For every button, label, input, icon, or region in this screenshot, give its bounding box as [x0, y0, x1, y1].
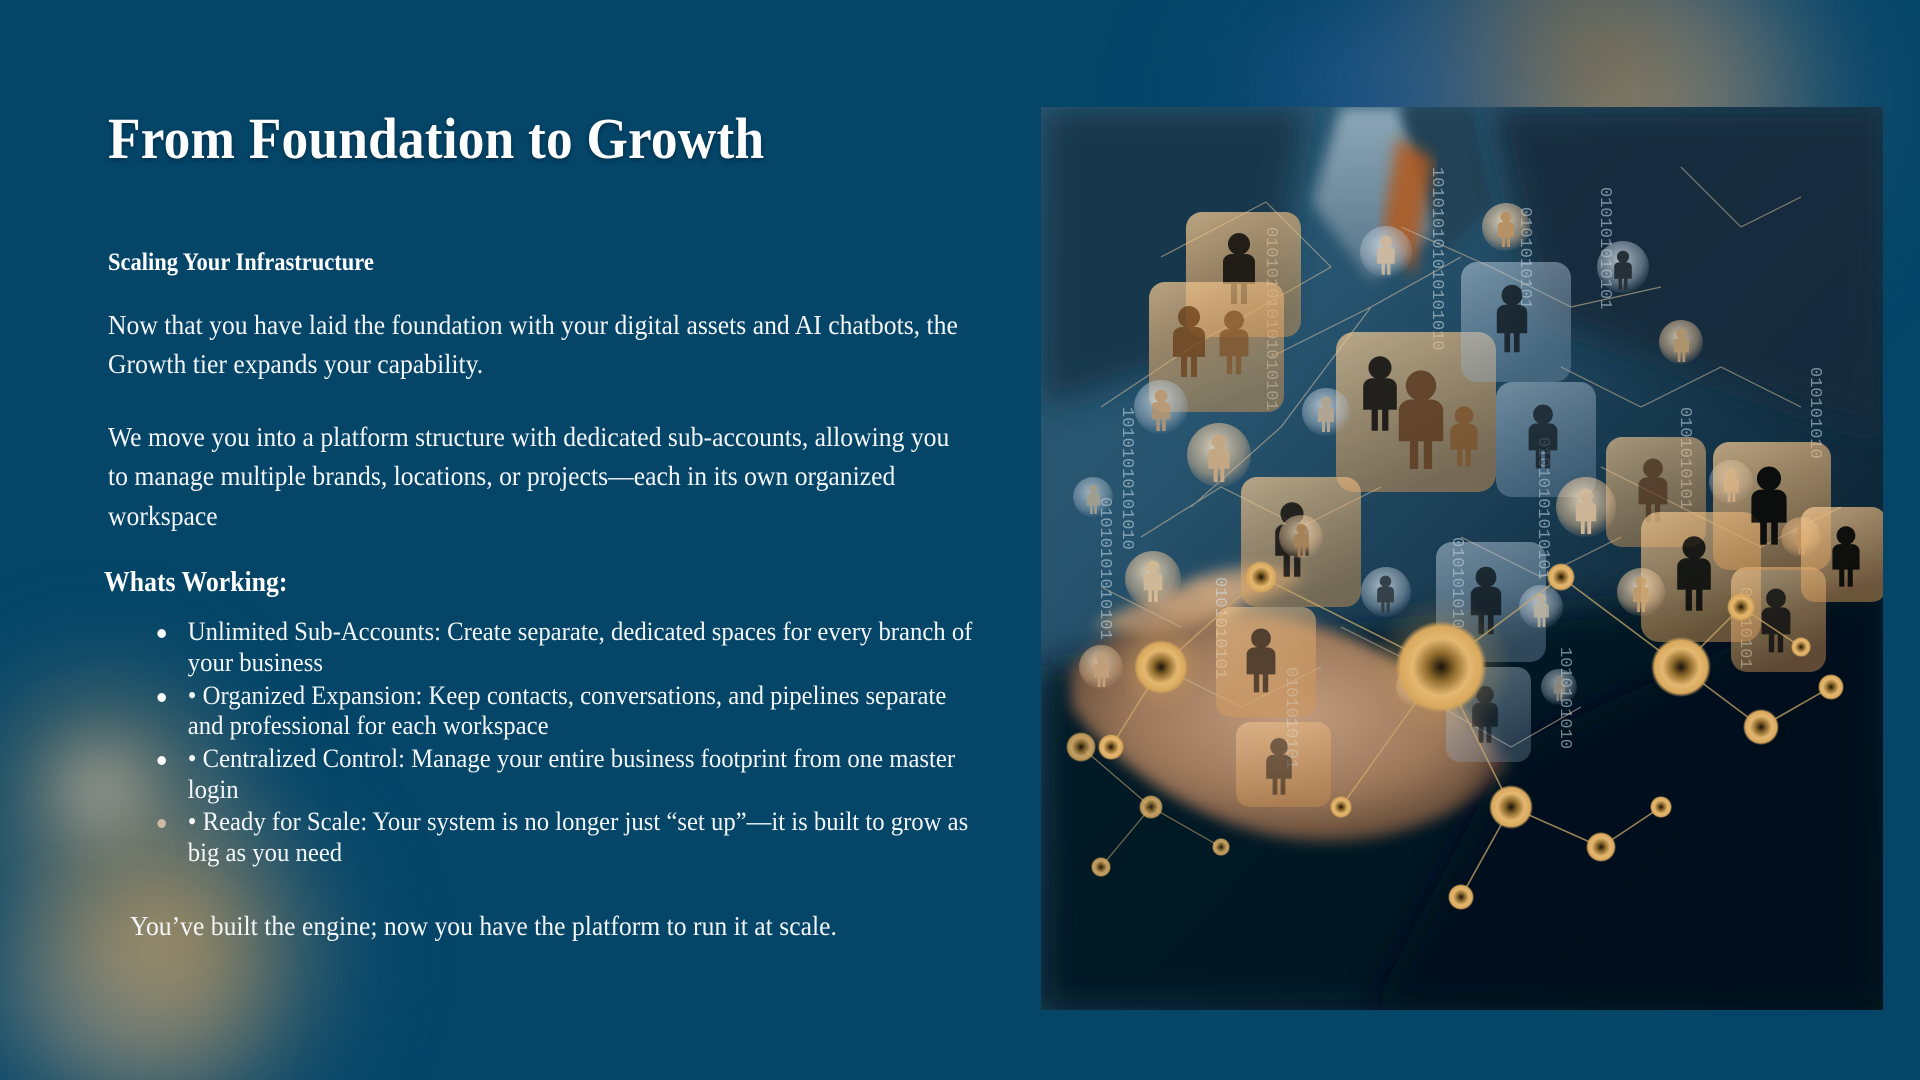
paragraph-intro: Now that you have laid the foundation wi… [108, 306, 973, 384]
svg-text:101010101010101010: 101010101010101010 [1427, 167, 1446, 351]
list-item: • Organized Expansion: Keep contacts, co… [154, 681, 986, 742]
page-title: From Foundation to Growth [108, 110, 764, 168]
list-heading: Whats Working: [104, 566, 963, 600]
benefits-list: Unlimited Sub-Accounts: Create separate,… [108, 617, 992, 868]
list-item: • Centralized Control: Manage your entir… [154, 744, 986, 805]
presentation-slide: From Foundation to Growth Scaling Your I… [0, 0, 1920, 1080]
slide-body: Scaling Your Infrastructure Now that you… [108, 248, 1038, 944]
section-heading: Scaling Your Infrastructure [108, 248, 945, 278]
network-people-image: 01010101010101 10101010101010 0101010101… [1041, 107, 1883, 1010]
svg-text:01010101010101: 01010101010101 [1095, 497, 1114, 640]
network-people-illustration: 01010101010101 10101010101010 0101010101… [1041, 107, 1883, 1010]
list-item: • Ready for Scale: Your system is no lon… [154, 807, 986, 868]
svg-text:10101010101010: 10101010101010 [1117, 407, 1136, 550]
slide-text-column: From Foundation to Growth Scaling Your I… [108, 0, 1038, 1080]
list-item: Unlimited Sub-Accounts: Create separate,… [154, 617, 986, 678]
closing-statement: You’ve built the engine; now you have th… [130, 909, 993, 944]
paragraph-platform: We move you into a platform structure wi… [108, 418, 973, 535]
